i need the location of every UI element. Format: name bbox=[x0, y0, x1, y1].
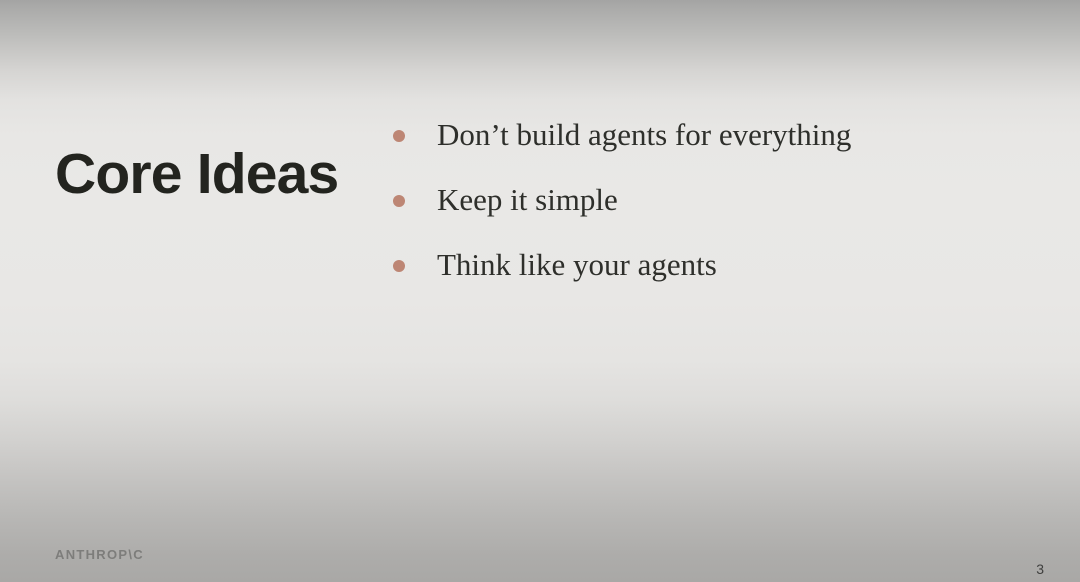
bullet-text: Don’t build agents for everything bbox=[437, 118, 993, 153]
presentation-slide: Core Ideas Don’t build agents for everyt… bbox=[0, 0, 1080, 582]
list-item: Keep it simple bbox=[393, 183, 993, 248]
bullet-dot-icon bbox=[393, 195, 405, 207]
anthropic-logo-wordmark: ANTHROP\C bbox=[55, 547, 144, 562]
bullet-list: Don’t build agents for everything Keep i… bbox=[393, 118, 993, 313]
bullet-dot-icon bbox=[393, 130, 405, 142]
bullet-dot-icon bbox=[393, 260, 405, 272]
list-item: Don’t build agents for everything bbox=[393, 118, 993, 183]
bullet-text: Keep it simple bbox=[437, 183, 993, 218]
list-item: Think like your agents bbox=[393, 248, 993, 313]
slide-title: Core Ideas bbox=[55, 145, 338, 205]
slide-page-number: 3 bbox=[1036, 561, 1044, 577]
bullet-text: Think like your agents bbox=[437, 248, 993, 283]
